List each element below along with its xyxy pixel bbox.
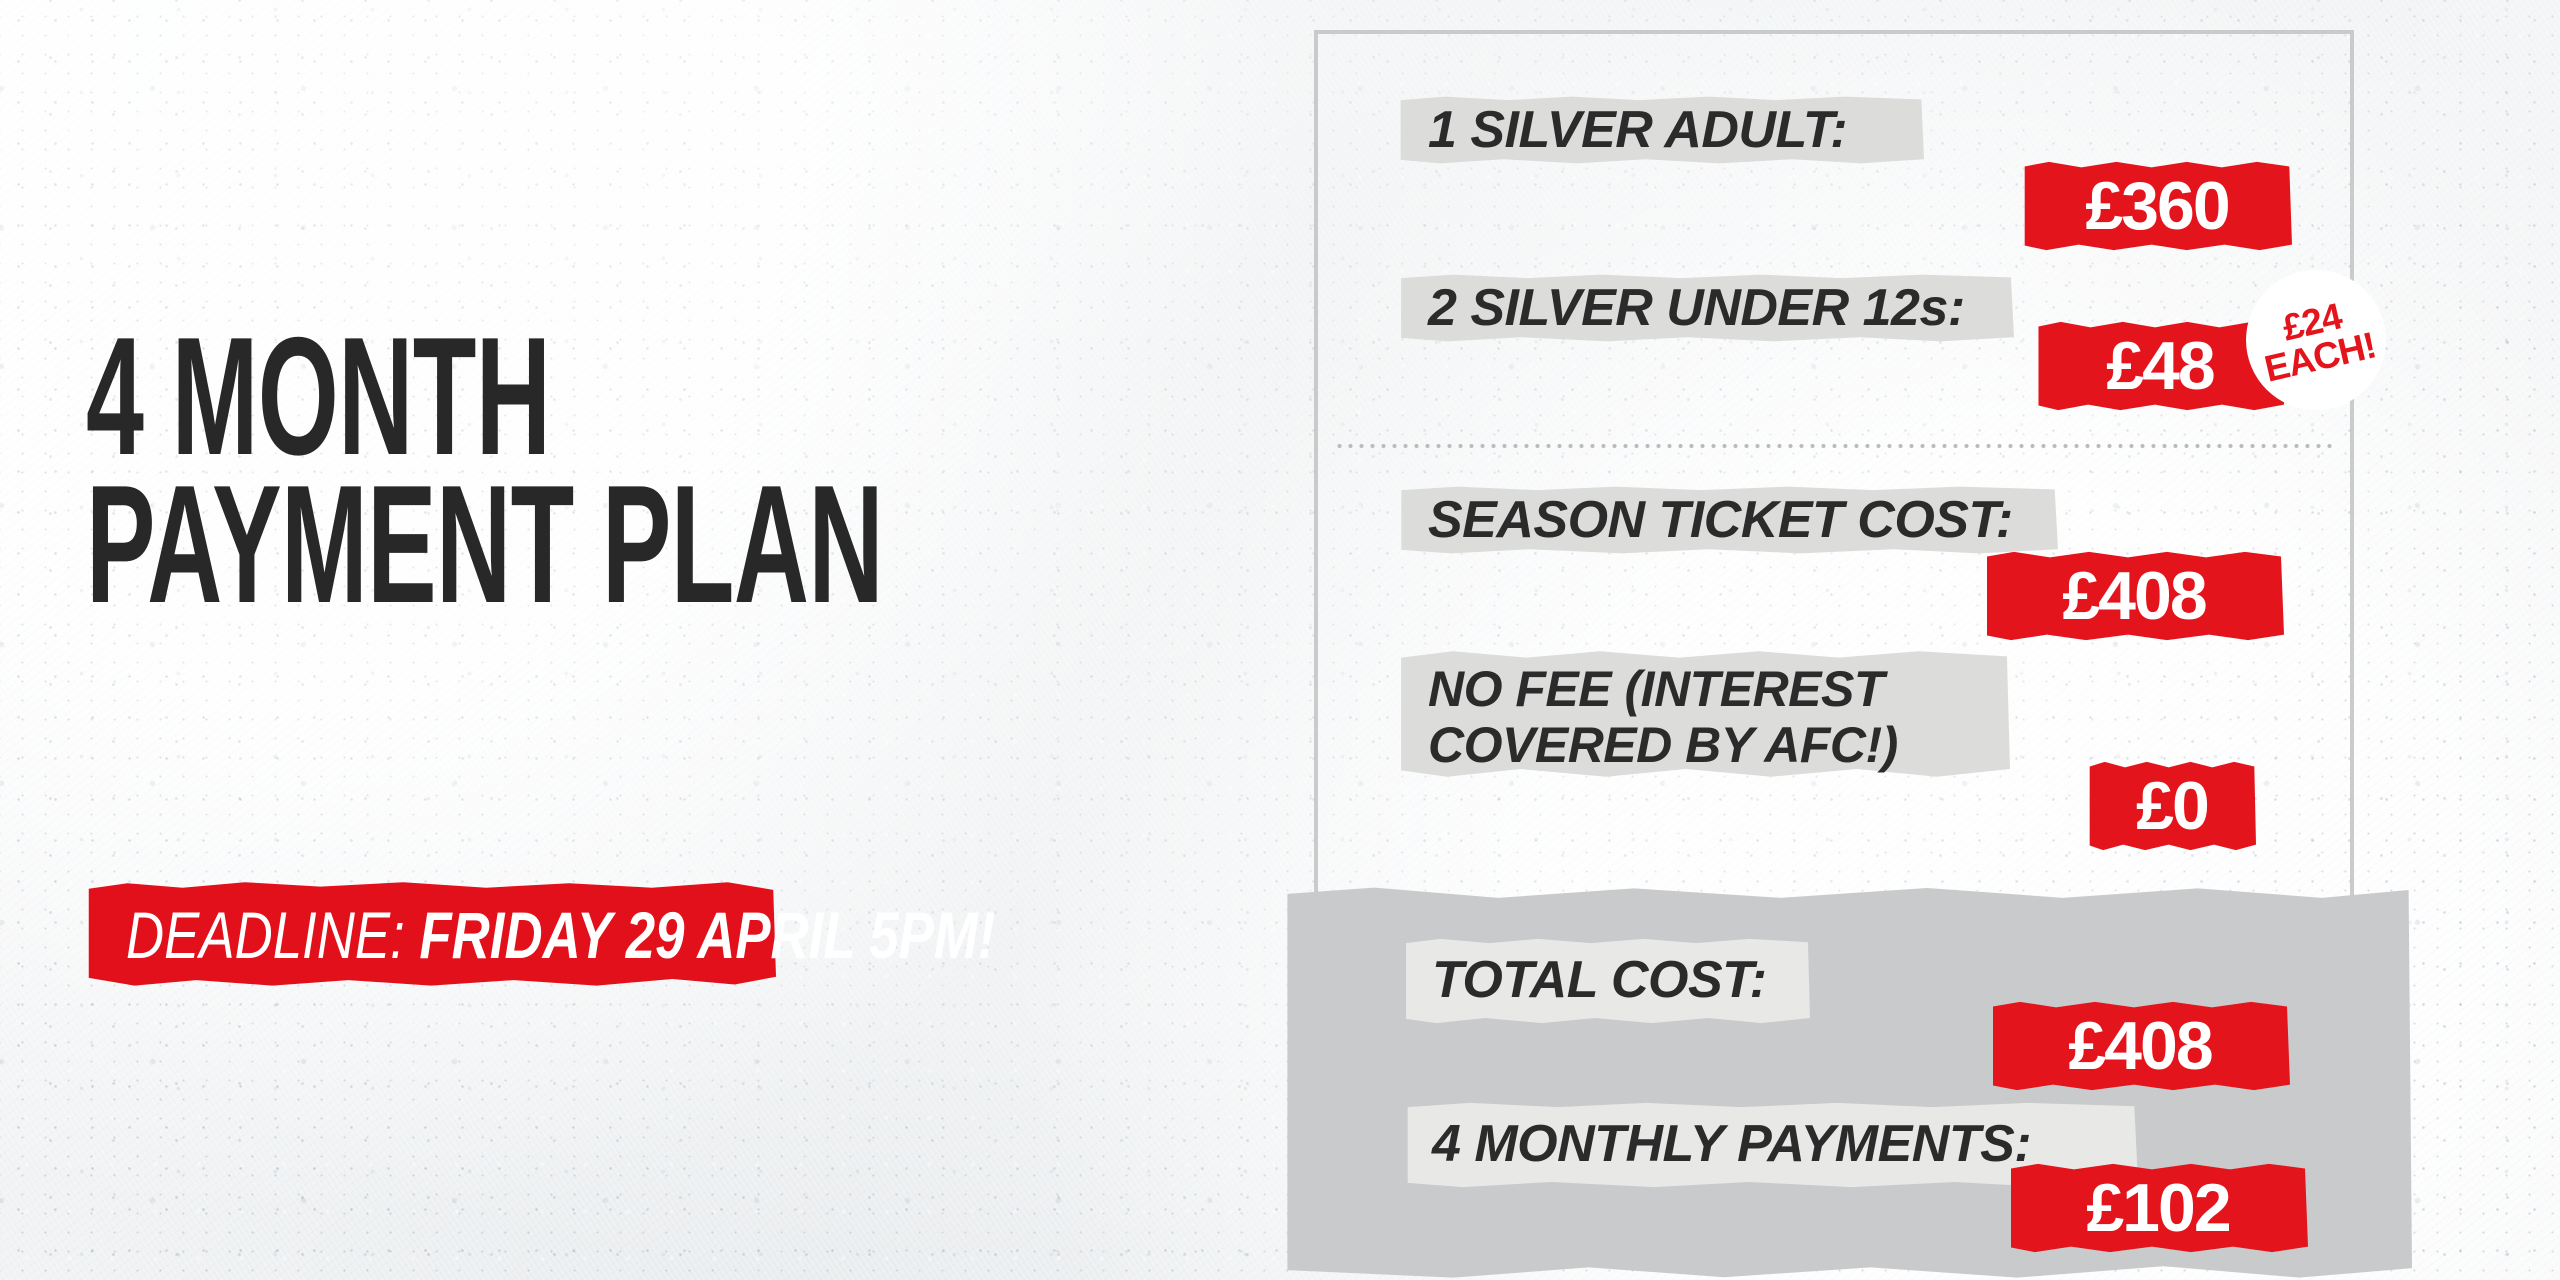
- label-no-fee-line-1: NO FEE (INTEREST: [1428, 660, 1884, 718]
- label-silver-adult: 1 SILVER ADULT:: [1428, 104, 1847, 156]
- section-divider: [1334, 443, 2336, 449]
- price-box-silver-adult: £360: [2022, 160, 2292, 252]
- headline-line-2: PAYMENT PLAN: [86, 466, 520, 622]
- label-no-fee-line-2: COVERED BY AFC!): [1428, 716, 1898, 774]
- label-total-cost: TOTAL COST:: [1432, 952, 1766, 1008]
- price-box-total-cost: £408: [1990, 1000, 2290, 1092]
- price-monthly-payments: £102: [2008, 1162, 2308, 1254]
- price-box-monthly-payments: £102: [2008, 1162, 2308, 1254]
- price-box-no-fee: £0: [2088, 760, 2256, 852]
- each-price-badge: £24 EACH!: [2246, 270, 2386, 410]
- deadline-prefix: DEADLINE:: [126, 898, 419, 972]
- price-no-fee: £0: [2088, 760, 2256, 852]
- price-season-ticket: £408: [1984, 550, 2284, 642]
- price-total-cost: £408: [1990, 1000, 2290, 1092]
- label-monthly-payments: 4 MONTHLY PAYMENTS:: [1432, 1116, 2031, 1172]
- deadline-banner: DEADLINE: FRIDAY 29 APRIL 5PM!: [86, 880, 776, 990]
- price-silver-adult: £360: [2022, 160, 2292, 252]
- price-box-season-ticket: £408: [1984, 550, 2284, 642]
- deadline-banner-text: DEADLINE: FRIDAY 29 APRIL 5PM!: [126, 902, 995, 968]
- label-season-ticket: SEASON TICKET COST:: [1428, 494, 2013, 546]
- label-silver-under12: 2 SILVER UNDER 12s:: [1428, 282, 1965, 334]
- each-price-badge-text: £24 EACH!: [2253, 292, 2378, 387]
- headline-block: 4 MONTH PAYMENT PLAN: [86, 318, 786, 622]
- deadline-value: FRIDAY 29 APRIL 5PM!: [419, 898, 995, 972]
- poster-canvas: 4 MONTH PAYMENT PLAN DEADLINE: FRIDAY 29…: [0, 0, 2560, 1280]
